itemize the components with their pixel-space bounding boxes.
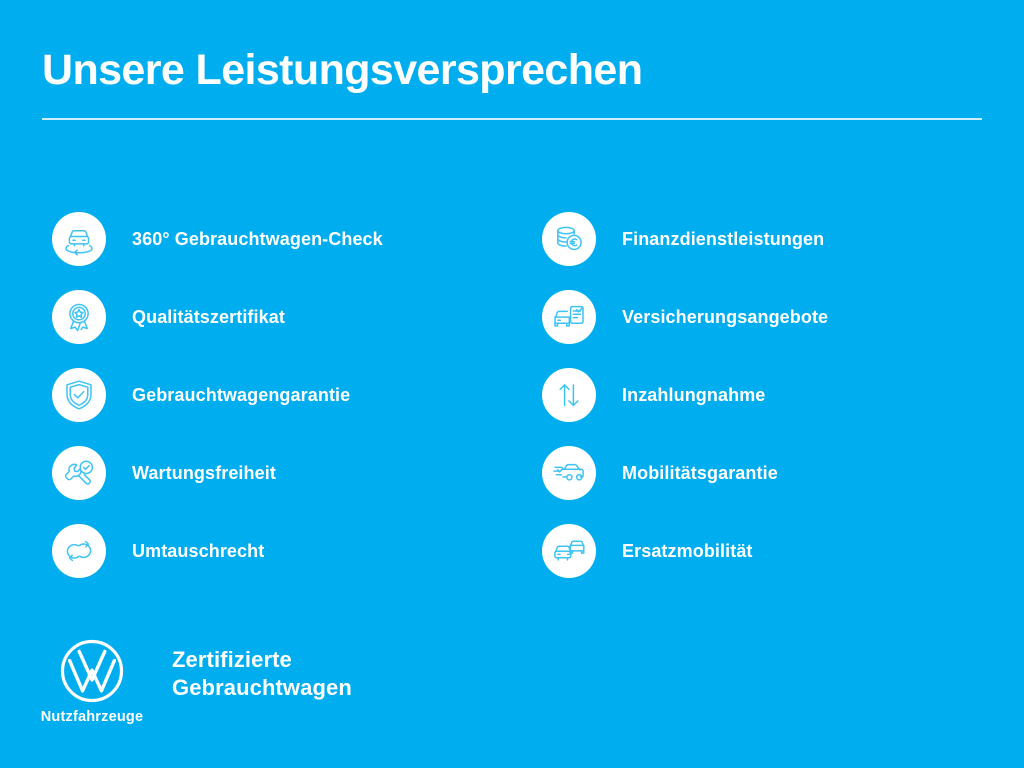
coins-euro-icon: [542, 212, 596, 266]
feature-label: Finanzdienstleistungen: [622, 229, 824, 250]
page-title: Unsere Leistungsversprechen: [42, 48, 982, 93]
car-360-check-icon: [52, 212, 106, 266]
brand-claim: Zertifizierte Gebrauchtwagen: [172, 646, 352, 702]
feature-label: Ersatzmobilität: [622, 541, 753, 562]
feature-label: Mobilitätsgarantie: [622, 463, 778, 484]
award-rosette-icon: [52, 290, 106, 344]
vw-roundel-logo: [59, 638, 125, 704]
feature-item-umtauschrecht[interactable]: Umtauschrecht: [52, 512, 522, 590]
car-document-check-icon: [542, 290, 596, 344]
brand-mark: Nutzfahrzeuge: [40, 638, 144, 725]
arrows-up-down-icon: [542, 368, 596, 422]
feature-item-gebrauchtwagen-check[interactable]: 360° Gebrauchtwagen-Check: [52, 200, 522, 278]
feature-label: Wartungsfreiheit: [132, 463, 276, 484]
feature-column-right: Finanzdienstleistungen Versicherungsange…: [542, 200, 982, 590]
brand-claim-line2: Gebrauchtwagen: [172, 674, 352, 702]
brand-claim-line1: Zertifizierte: [172, 646, 352, 674]
feature-label: Gebrauchtwagengarantie: [132, 385, 350, 406]
feature-grid: 360° Gebrauchtwagen-Check Qualitätszerti…: [0, 200, 1024, 590]
feature-column-left: 360° Gebrauchtwagen-Check Qualitätszerti…: [52, 200, 522, 590]
feature-item-finanzdienstleistungen[interactable]: Finanzdienstleistungen: [542, 200, 982, 278]
slide-root: Unsere Leistungsversprechen 360° Gebrauc: [0, 0, 1024, 768]
car-motion-check-icon: [542, 446, 596, 500]
title-divider: [42, 118, 982, 120]
feature-label: Versicherungsangebote: [622, 307, 828, 328]
feature-item-ersatzmobilitaet[interactable]: Ersatzmobilität: [542, 512, 982, 590]
feature-label: Qualitätszertifikat: [132, 307, 285, 328]
feature-item-qualitaetszertifikat[interactable]: Qualitätszertifikat: [52, 278, 522, 356]
feature-item-mobilitaetsgarantie[interactable]: Mobilitätsgarantie: [542, 434, 982, 512]
feature-item-inzahlungnahme[interactable]: Inzahlungnahme: [542, 356, 982, 434]
brand-footer: Nutzfahrzeuge Zertifizierte Gebrauchtwag…: [40, 638, 352, 725]
brand-sub-label: Nutzfahrzeuge: [41, 709, 144, 725]
feature-label: 360° Gebrauchtwagen-Check: [132, 229, 383, 250]
feature-item-versicherungsangebote[interactable]: Versicherungsangebote: [542, 278, 982, 356]
feature-label: Umtauschrecht: [132, 541, 264, 562]
feature-item-wartungsfreiheit[interactable]: Wartungsfreiheit: [52, 434, 522, 512]
exchange-arrows-icon: [52, 524, 106, 578]
slide-header: Unsere Leistungsversprechen: [42, 48, 982, 120]
feature-item-gebrauchtwagengarantie[interactable]: Gebrauchtwagengarantie: [52, 356, 522, 434]
shield-check-icon: [52, 368, 106, 422]
wrench-check-icon: [52, 446, 106, 500]
feature-label: Inzahlungnahme: [622, 385, 765, 406]
two-cars-icon: [542, 524, 596, 578]
